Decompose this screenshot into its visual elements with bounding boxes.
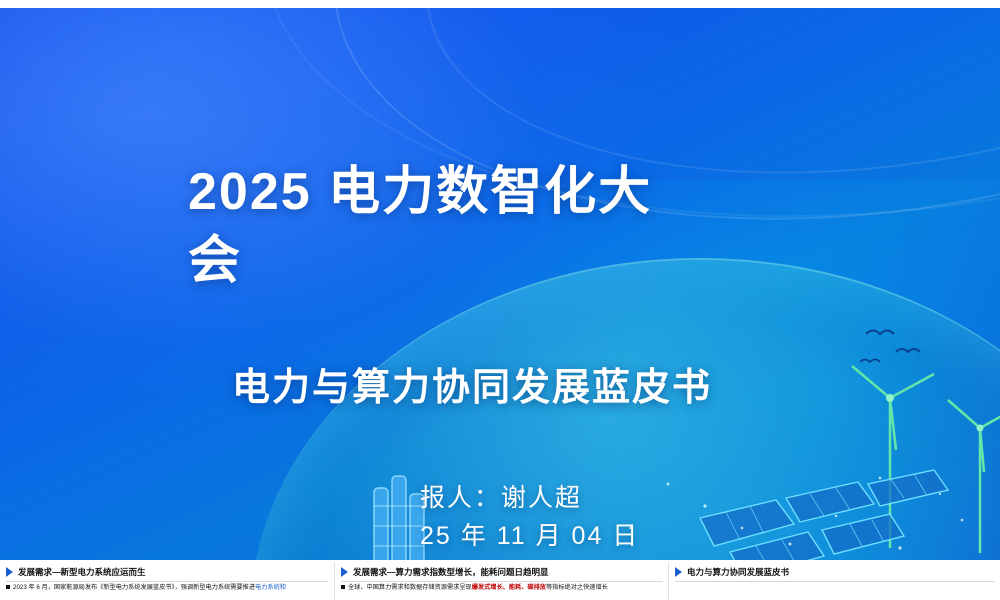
thumbnail-slide-2[interactable]: 发展需求—算力需求指数型增长，能耗问题日趋明显 全球、中国算力需求和数据存储资源… (334, 562, 669, 600)
slide-subtitle: 电力与算力协同发展蓝皮书 (232, 356, 872, 411)
bullet-square-icon (341, 585, 345, 589)
thumbnail-1-body-highlight: 电力系统和 (255, 584, 286, 591)
slide-title-line1: 2025 电力数智化大 (188, 158, 828, 227)
thumbnail-3-header: 电力与算力协同发展蓝皮书 (669, 562, 1000, 580)
thumbnail-3-title: 电力与算力协同发展蓝皮书 (687, 566, 789, 578)
triangle-marker-icon (341, 567, 348, 577)
thumbnail-2-body-text: 全球、中国算力需求和数据存储资源需求呈现 (348, 584, 472, 591)
triangle-marker-icon (6, 567, 13, 577)
slide-title-line2: 会 (188, 227, 828, 296)
bullet-square-icon (6, 585, 10, 589)
thumbnail-1-body: 2023 年 6 月，国家能源局发布《新型电力系统发展蓝皮书》，强调新型电力系统… (0, 582, 334, 593)
thumbnail-slide-3[interactable]: 电力与算力协同发展蓝皮书 (668, 562, 1000, 600)
thumbnail-2-body-highlight: 爆发式增长、能耗、碳排放 (472, 584, 546, 591)
thumbnail-1-header: 发展需求—新型电力系统应运而生 (0, 562, 334, 580)
thumbnail-2-body-suffix: 等指标绝对之快速增长 (546, 584, 608, 591)
presentation-page: 2025 电力数智化大 会 电力与算力协同发展蓝皮书 报人：谢人超 25 年 1… (0, 0, 1000, 600)
thumbnail-2-header: 发展需求—算力需求指数型增长，能耗问题日趋明显 (335, 562, 669, 580)
slide-canvas: 2025 电力数智化大 会 电力与算力协同发展蓝皮书 报人：谢人超 25 年 1… (0, 8, 1000, 560)
slide-title: 2025 电力数智化大 会 (188, 158, 828, 295)
slide-presenter: 报人：谢人超 (420, 478, 582, 514)
slide-date: 25 年 11 月 04 日 (420, 516, 639, 552)
slide-thumbnail-strip: 发展需求—新型电力系统应运而生 2023 年 6 月，国家能源局发布《新型电力系… (0, 562, 1000, 600)
triangle-marker-icon (675, 567, 682, 577)
thumbnail-3-body (669, 582, 1000, 584)
thumbnail-2-title: 发展需求—算力需求指数型增长，能耗问题日趋明显 (353, 566, 549, 578)
thumbnail-2-body: 全球、中国算力需求和数据存储资源需求呈现爆发式增长、能耗、碳排放等指标绝对之快速… (335, 582, 669, 593)
thumbnail-slide-1[interactable]: 发展需求—新型电力系统应运而生 2023 年 6 月，国家能源局发布《新型电力系… (0, 562, 334, 600)
thumbnail-1-body-text: 2023 年 6 月，国家能源局发布《新型电力系统发展蓝皮书》，强调新型电力系统… (13, 584, 255, 591)
thumbnail-1-title: 发展需求—新型电力系统应运而生 (18, 566, 146, 578)
